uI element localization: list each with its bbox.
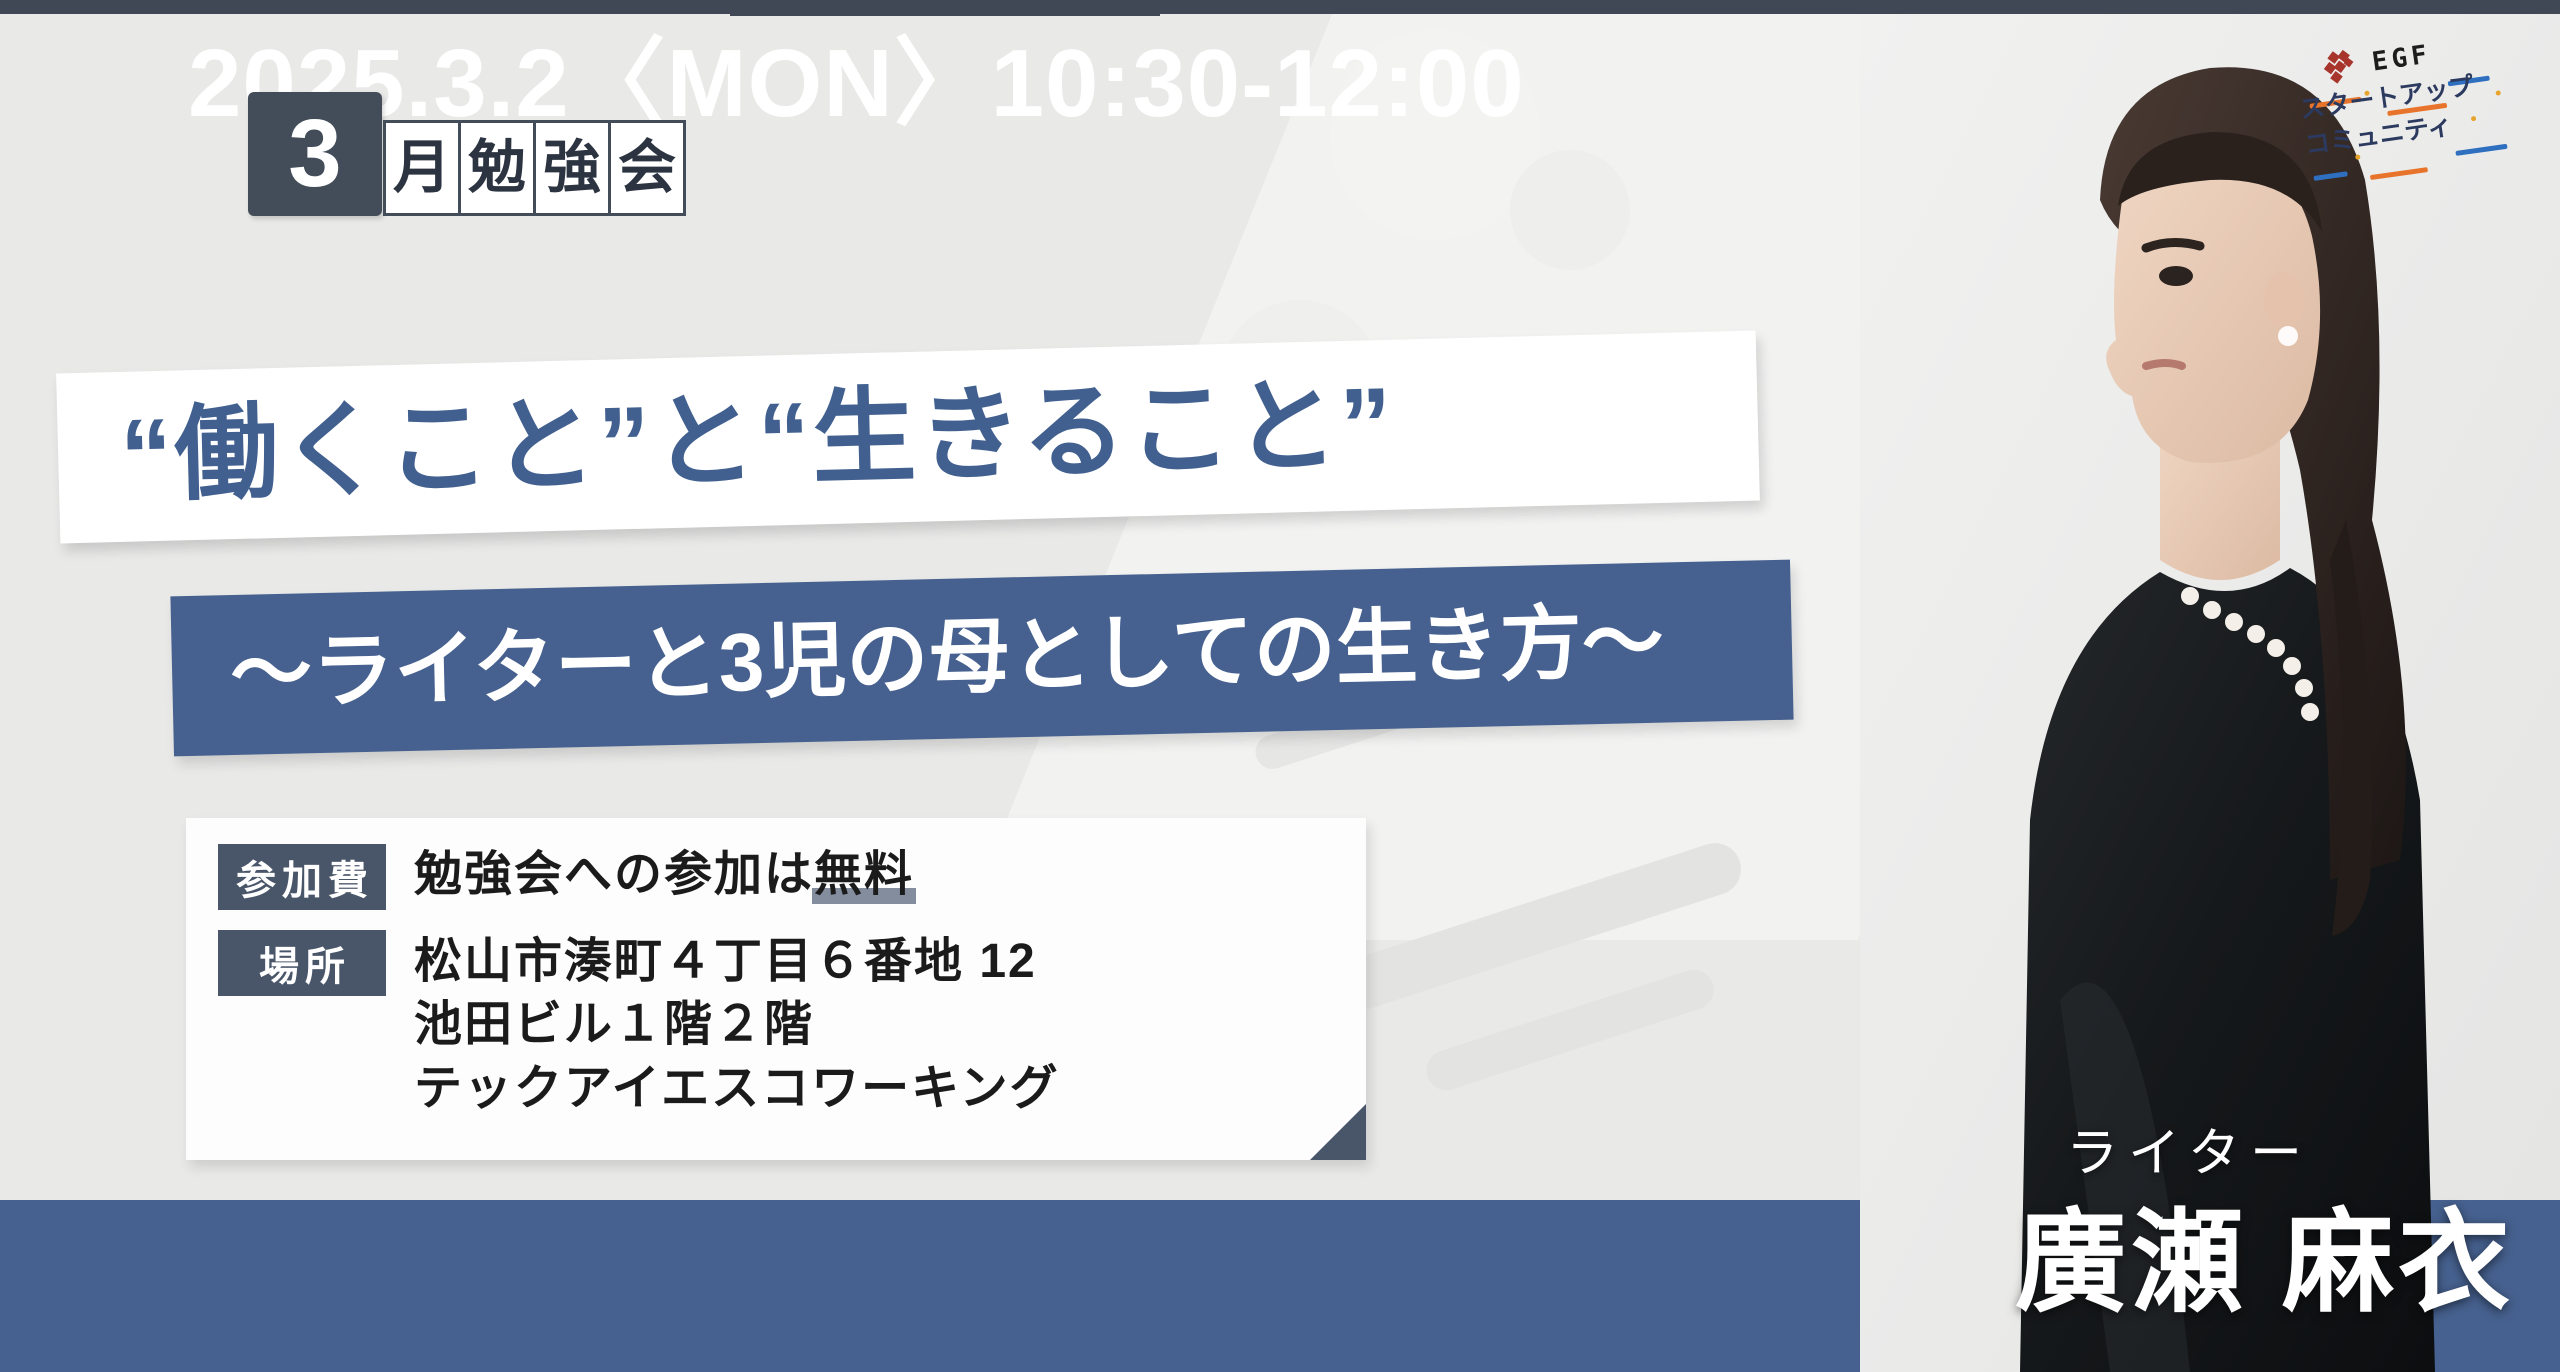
event-poster: EGF スタートアップ コミュニティ 3 月 勉 強 会 “働くこと”と“生きる… [0,0,2560,1372]
fee-free-highlight: 無料 [814,844,914,905]
background-streak-decoration [1421,965,1719,1096]
page-subtitle: 〜ライターと3児の母としての生き方〜 [229,602,1664,717]
month-number-badge: 3 [248,92,382,216]
event-details-card: 参加費 勉強会への参加は無料 場所 松山市湊町４丁目６番地 12 池田ビル１階２… [186,818,1366,1160]
card-corner-accent [1310,1104,1366,1160]
month-label-box: 月 [383,120,461,216]
window-chrome-notch [730,0,1160,16]
month-label-box: 勉 [458,120,536,216]
egf-diamond-mark [2320,47,2366,87]
venue-badge: 場所 [218,930,386,996]
fee-badge: 参加費 [218,844,386,910]
venue-address-line: 松山市湊町４丁目６番地 12 [414,930,1060,993]
detail-row-fee: 参加費 勉強会への参加は無料 [218,844,1366,910]
venue-address: 松山市湊町４丁目６番地 12 池田ビル１階２階 テックアイエスコワーキング [414,930,1060,1120]
logo-brand-text: EGF [2370,42,2432,76]
month-heading: 3 月 勉 強 会 [248,92,686,216]
venue-address-line: 池田ビル１階２階 [414,993,1060,1056]
fee-value: 勉強会への参加は無料 [414,844,914,905]
speaker-name: 廣瀬 麻衣 [2015,1172,2514,1334]
background-circle-decoration [1510,150,1630,270]
page-title: “働くこと”と“生きること” [119,373,1395,509]
egf-logo: EGF スタートアップ コミュニティ [2293,25,2542,206]
month-label-boxes: 月 勉 強 会 [386,120,686,216]
venue-address-line: テックアイエスコワーキング [414,1057,1060,1120]
month-label-box: 会 [608,120,686,216]
detail-row-venue: 場所 松山市湊町４丁目６番地 12 池田ビル１階２階 テックアイエスコワーキング [218,930,1366,1120]
month-label-box: 強 [533,120,611,216]
fee-value-text: 勉強会への参加は [414,848,814,901]
window-chrome-top-bar [0,0,2560,14]
